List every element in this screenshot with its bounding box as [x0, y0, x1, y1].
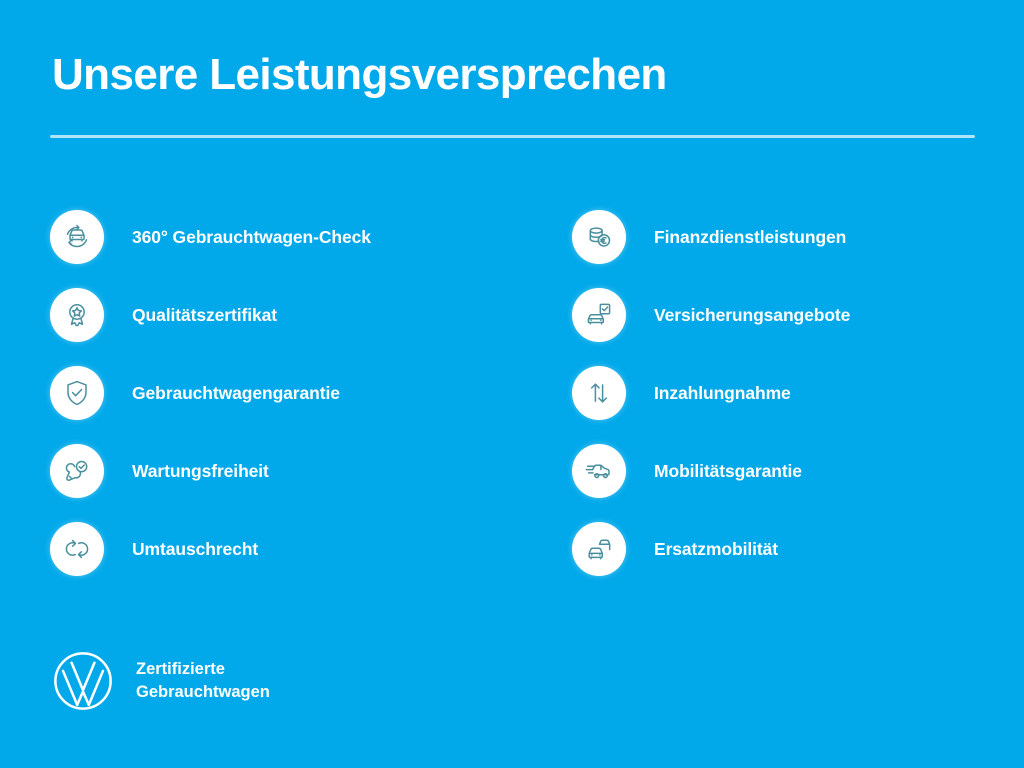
exchange-arrows-icon: [50, 522, 104, 576]
benefit-item-warranty[interactable]: Gebrauchtwagengarantie: [50, 354, 520, 432]
benefit-label: Inzahlungnahme: [654, 383, 791, 404]
wrench-check-icon: [50, 444, 104, 498]
volkswagen-logo: [52, 650, 114, 712]
benefit-item-maintenance-free[interactable]: Wartungsfreiheit: [50, 432, 520, 510]
benefit-label: Mobilitätsgarantie: [654, 461, 802, 482]
benefit-item-financial-services[interactable]: Finanzdienstleistungen: [572, 198, 1012, 276]
footer-line-1: Zertifizierte: [136, 658, 270, 681]
benefit-label: Qualitätszertifikat: [132, 305, 277, 326]
benefit-item-right-of-exchange[interactable]: Umtauschrecht: [50, 510, 520, 588]
coins-euro-icon: [572, 210, 626, 264]
footer-brand-lockup: Zertifizierte Gebrauchtwagen: [52, 650, 270, 712]
benefit-item-trade-in[interactable]: Inzahlungnahme: [572, 354, 1012, 432]
benefits-right-column: Finanzdienstleistungen Versicherungsange…: [572, 198, 1012, 588]
slide-root: Unsere Leistungsversprechen: [0, 0, 1024, 768]
arrows-up-down-icon: [572, 366, 626, 420]
two-cars-icon: [572, 522, 626, 576]
benefit-item-360-check[interactable]: 360° Gebrauchtwagen-Check: [50, 198, 520, 276]
benefit-label: Versicherungsangebote: [654, 305, 850, 326]
benefits-left-column: 360° Gebrauchtwagen-Check Qualitätszerti…: [50, 198, 520, 588]
car-motion-icon: [572, 444, 626, 498]
benefit-item-insurance-offers[interactable]: Versicherungsangebote: [572, 276, 1012, 354]
benefit-label: Finanzdienstleistungen: [654, 227, 846, 248]
footer-line-2: Gebrauchtwagen: [136, 681, 270, 704]
car-document-check-icon: [572, 288, 626, 342]
benefit-label: 360° Gebrauchtwagen-Check: [132, 227, 371, 248]
page-title: Unsere Leistungsversprechen: [52, 52, 667, 98]
title-divider: [50, 135, 975, 138]
benefit-label: Wartungsfreiheit: [132, 461, 269, 482]
shield-check-icon: [50, 366, 104, 420]
benefit-item-mobility-guarantee[interactable]: Mobilitätsgarantie: [572, 432, 1012, 510]
footer-text: Zertifizierte Gebrauchtwagen: [136, 658, 270, 705]
benefit-item-replacement-mobility[interactable]: Ersatzmobilität: [572, 510, 1012, 588]
car-check-360-icon: [50, 210, 104, 264]
benefit-label: Umtauschrecht: [132, 539, 258, 560]
benefit-item-quality-certificate[interactable]: Qualitätszertifikat: [50, 276, 520, 354]
benefit-label: Gebrauchtwagengarantie: [132, 383, 340, 404]
award-rosette-icon: [50, 288, 104, 342]
benefit-label: Ersatzmobilität: [654, 539, 778, 560]
